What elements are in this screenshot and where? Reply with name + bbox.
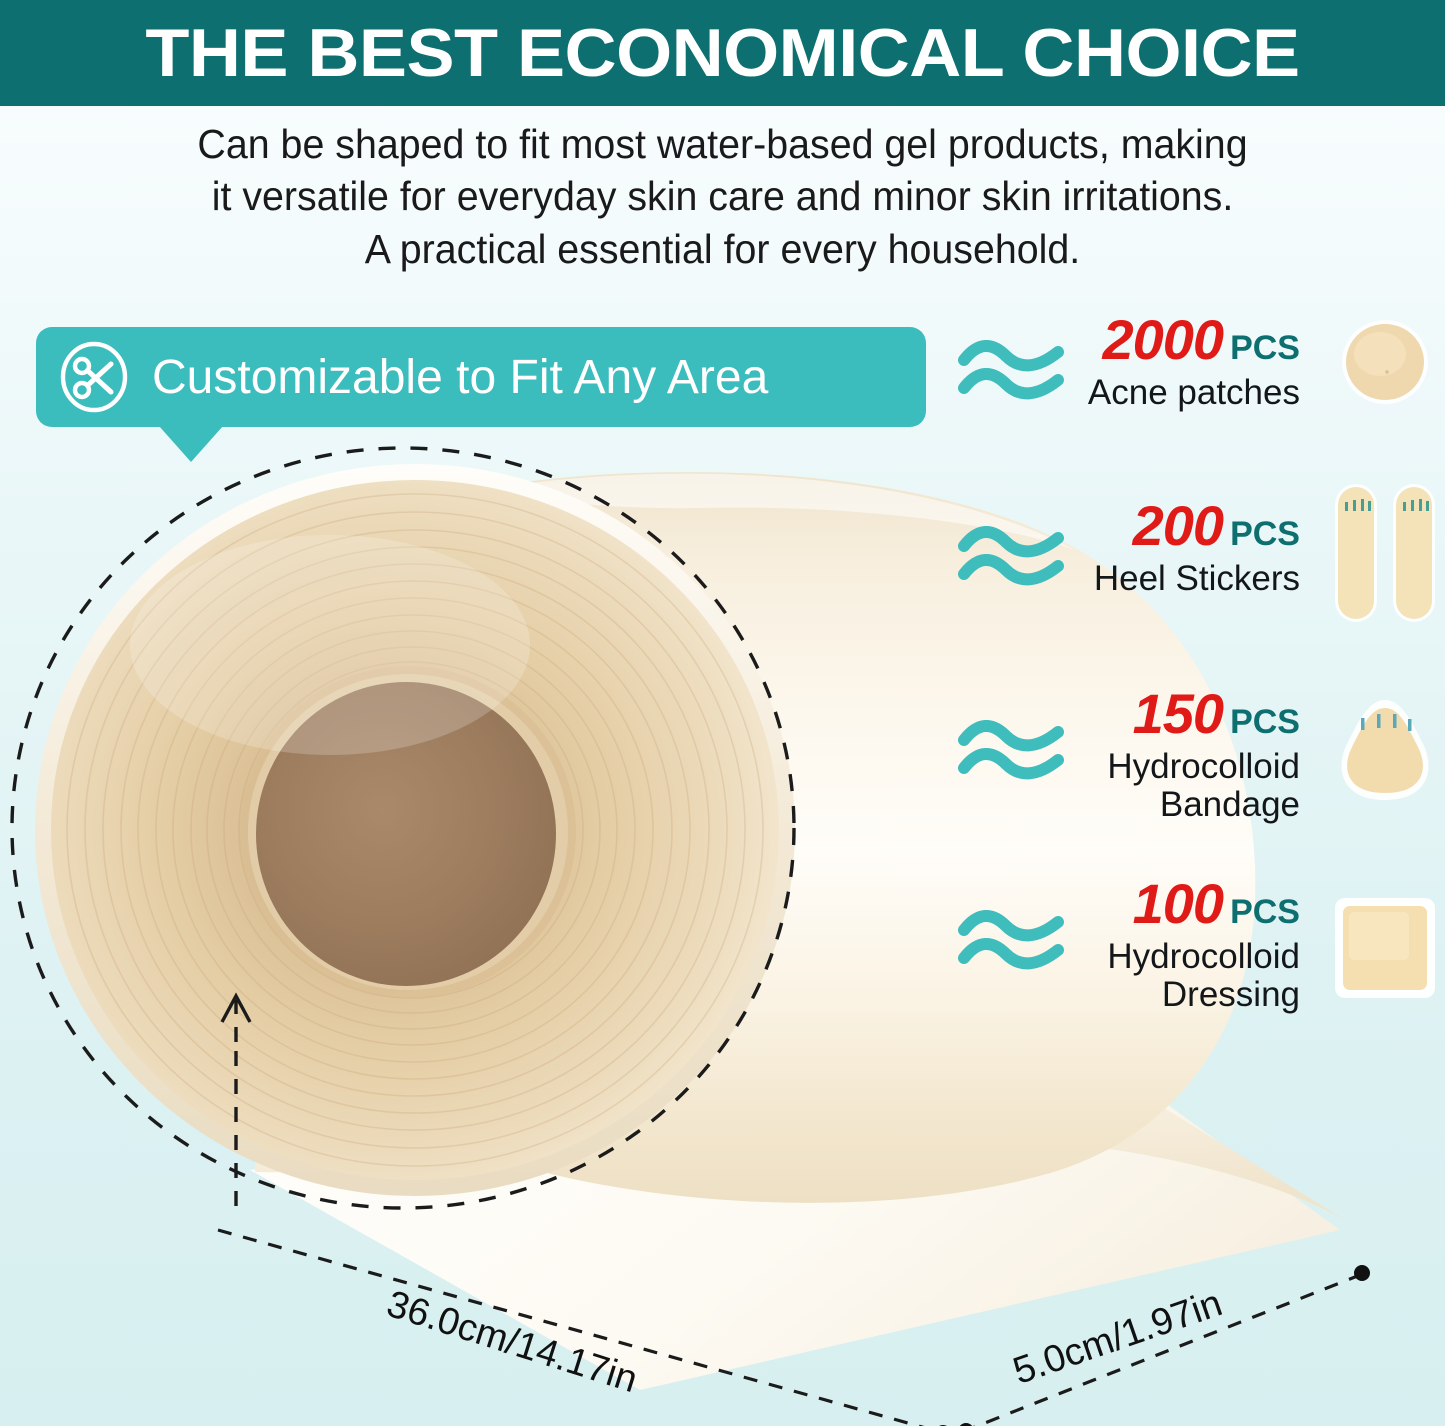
hydrocolloid-dressing-square-thumbnail xyxy=(1325,890,1445,1020)
subtitle-line-2: it versatile for everyday skin care and … xyxy=(29,170,1416,222)
feature-count-line: 100PCS xyxy=(1070,876,1300,932)
feature-text-block: 200PCS Heel Stickers xyxy=(1070,498,1300,598)
feature-row-acne-patches: 2000PCS Acne patches xyxy=(952,306,1445,466)
feature-text-block: 150PCS Hydrocolloid Bandage xyxy=(1070,686,1300,824)
page-title: THE BEST ECONOMICAL CHOICE xyxy=(145,19,1299,87)
subtitle-line-1: Can be shaped to fit most water-based ge… xyxy=(29,118,1416,170)
feature-count: 2000 xyxy=(1103,308,1224,371)
feature-count-line: 150PCS xyxy=(1070,686,1300,742)
customizable-callout: Customizable to Fit Any Area xyxy=(36,327,926,427)
subtitle-block: Can be shaped to fit most water-based ge… xyxy=(29,118,1416,275)
feature-list: 2000PCS Acne patches xyxy=(952,306,1445,1036)
feature-unit: PCS xyxy=(1230,703,1300,741)
roll-face-highlight xyxy=(130,535,530,755)
feature-count: 200 xyxy=(1133,494,1223,557)
wave-icon xyxy=(958,340,1066,400)
heel-sticker-pair-thumbnail xyxy=(1325,468,1445,638)
feature-name: Hydrocolloid Bandage xyxy=(1070,748,1300,824)
feature-unit: PCS xyxy=(1230,329,1300,367)
feature-count-line: 2000PCS xyxy=(1070,312,1300,368)
product-infographic-page: THE BEST ECONOMICAL CHOICE Can be shaped… xyxy=(0,0,1445,1426)
scissors-icon xyxy=(58,341,130,413)
feature-row-hydrocolloid-bandage: 150PCS Hydrocolloid Bandage xyxy=(952,686,1445,846)
feature-unit: PCS xyxy=(1230,893,1300,931)
customizable-badge[interactable]: Customizable to Fit Any Area xyxy=(36,327,926,427)
feature-count: 150 xyxy=(1133,682,1223,745)
customizable-badge-label: Customizable to Fit Any Area xyxy=(152,350,768,405)
subtitle-line-3: A practical essential for every househol… xyxy=(29,223,1416,275)
hydrocolloid-bandage-thumbnail xyxy=(1325,692,1445,822)
round-acne-patch-thumbnail xyxy=(1325,316,1445,446)
feature-name: Hydrocolloid Dressing xyxy=(1070,938,1300,1014)
feature-row-hydrocolloid-dressing: 100PCS Hydrocolloid Dressing xyxy=(952,876,1445,1036)
feature-count: 100 xyxy=(1133,872,1223,935)
badge-pointer-tail xyxy=(159,426,223,462)
wave-icon xyxy=(958,720,1066,780)
feature-count-line: 200PCS xyxy=(1070,498,1300,554)
feature-unit: PCS xyxy=(1230,515,1300,553)
feature-text-block: 2000PCS Acne patches xyxy=(1070,312,1300,412)
wave-icon xyxy=(958,526,1066,586)
feature-name: Heel Stickers xyxy=(1070,560,1300,598)
feature-row-heel-stickers: 200PCS Heel Stickers xyxy=(952,492,1445,652)
header-banner: THE BEST ECONOMICAL CHOICE xyxy=(0,0,1445,106)
feature-text-block: 100PCS Hydrocolloid Dressing xyxy=(1070,876,1300,1014)
feature-name: Acne patches xyxy=(1070,374,1300,412)
wave-icon xyxy=(958,910,1066,970)
